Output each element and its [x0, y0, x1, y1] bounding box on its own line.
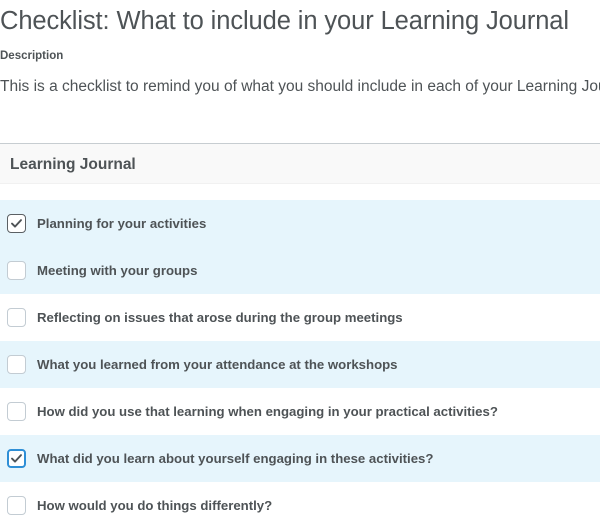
- checklist-row-inner: How would you do things differently?: [0, 482, 272, 520]
- checkbox-unchecked-icon[interactable]: [7, 496, 26, 515]
- checklist-item-label: Meeting with your groups: [37, 262, 197, 280]
- section-header: Learning Journal: [0, 143, 600, 184]
- checklist-item-label: Reflecting on issues that arose during t…: [37, 309, 403, 327]
- checklist-row[interactable]: How would you do things differently?: [0, 482, 600, 520]
- checkbox-unchecked-icon[interactable]: [7, 261, 26, 280]
- checklist-item-label: What you learned from your attendance at…: [37, 356, 398, 374]
- checklist-item-label: How would you do things differently?: [37, 497, 272, 515]
- checklist-row[interactable]: What you learned from your attendance at…: [0, 341, 600, 388]
- checkbox-unchecked-icon[interactable]: [7, 355, 26, 374]
- checklist-row[interactable]: Meeting with your groups: [0, 247, 600, 294]
- checklist-row[interactable]: How did you use that learning when engag…: [0, 388, 600, 435]
- checklist-item-label: Planning for your activities: [37, 215, 206, 233]
- checklist-row-inner: Planning for your activities: [0, 200, 206, 247]
- description-label: Description: [0, 49, 63, 64]
- checklist-row[interactable]: Planning for your activities: [0, 200, 600, 247]
- description-text: This is a checklist to remind you of wha…: [0, 76, 600, 98]
- section-header-label: Learning Journal: [10, 154, 136, 175]
- checklist-page: Checklist: What to include in your Learn…: [0, 0, 600, 520]
- checklist-row-inner: How did you use that learning when engag…: [0, 388, 498, 435]
- checklist-row-inner: What you learned from your attendance at…: [0, 341, 398, 388]
- checklist-item-label: How did you use that learning when engag…: [37, 403, 498, 421]
- checkbox-checked-icon[interactable]: [7, 449, 26, 468]
- checkbox-unchecked-icon[interactable]: [7, 308, 26, 327]
- checklist-row[interactable]: What did you learn about yourself engagi…: [0, 435, 600, 482]
- checkbox-unchecked-icon[interactable]: [7, 402, 26, 421]
- checklist-item-label: What did you learn about yourself engagi…: [37, 450, 433, 468]
- page-title: Checklist: What to include in your Learn…: [0, 4, 600, 38]
- checkbox-checked-icon[interactable]: [7, 214, 26, 233]
- checklist-row-inner: Meeting with your groups: [0, 247, 197, 294]
- checklist-row-inner: Reflecting on issues that arose during t…: [0, 294, 403, 341]
- checklist-row-inner: What did you learn about yourself engagi…: [0, 435, 433, 482]
- checklist-items: Planning for your activitiesMeeting with…: [0, 200, 600, 520]
- checklist-row[interactable]: Reflecting on issues that arose during t…: [0, 294, 600, 341]
